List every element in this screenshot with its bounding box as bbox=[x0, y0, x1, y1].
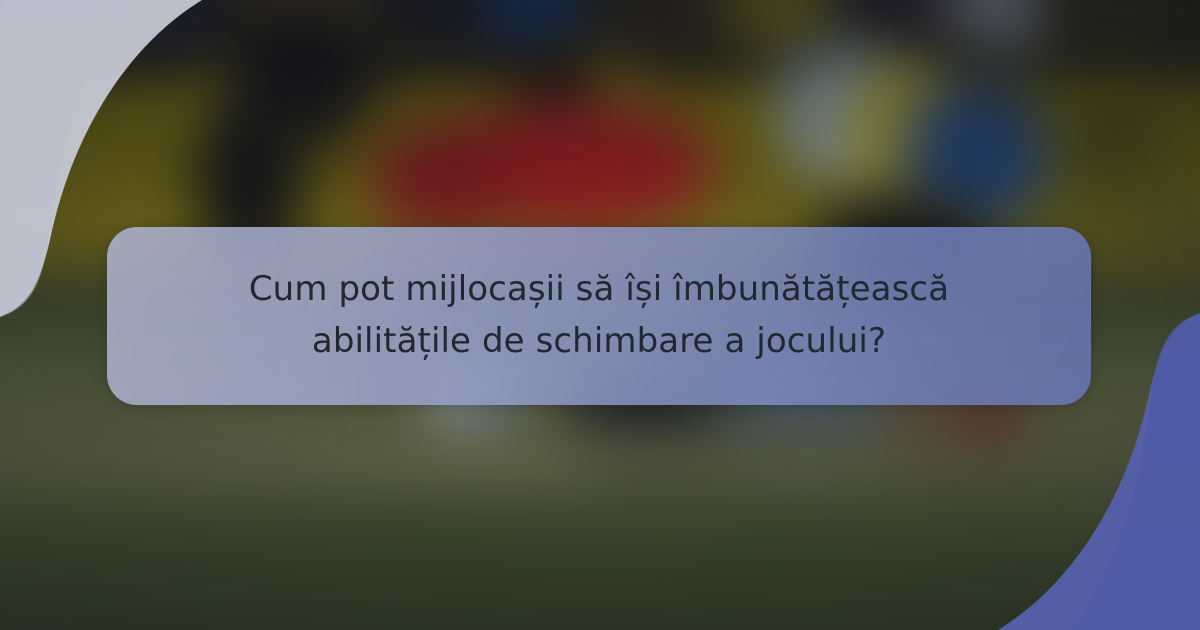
social-card-canvas: Cum pot mijlocașii să își îmbunătățească… bbox=[0, 0, 1200, 630]
question-title: Cum pot mijlocașii să își îmbunătățească… bbox=[146, 264, 1051, 367]
question-card: Cum pot mijlocașii să își îmbunătățească… bbox=[107, 227, 1091, 405]
